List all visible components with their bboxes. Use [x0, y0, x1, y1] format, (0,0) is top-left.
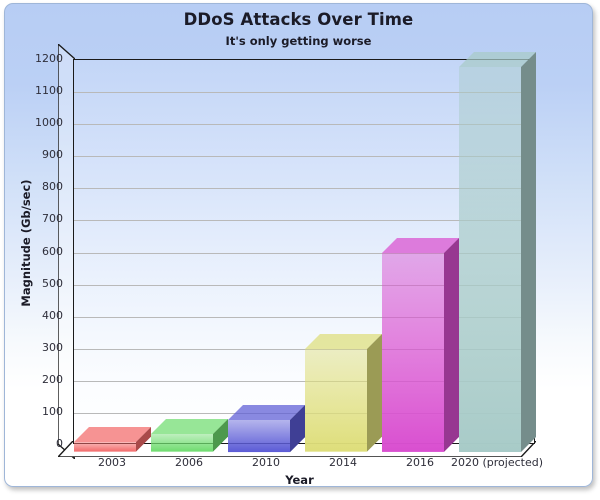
chart-card: DDoS Attacks Over Time It's only getting…: [4, 3, 593, 487]
bar[interactable]: [228, 405, 305, 453]
y-axis-title: Magnitude (Gb/sec): [19, 173, 33, 313]
y-tick-label: 1200: [17, 53, 63, 64]
x-tick-label: 2020 (projected): [437, 456, 557, 469]
y-tick-label: 1000: [17, 117, 63, 128]
bar[interactable]: [74, 427, 151, 453]
y-tick-label: 900: [17, 149, 63, 160]
bar-shape: [305, 334, 382, 453]
bar[interactable]: [459, 52, 536, 453]
bar[interactable]: [382, 238, 459, 453]
y-tick-label: 0: [17, 438, 63, 449]
bar-shape: [382, 238, 459, 453]
y-tick-label: 300: [17, 342, 63, 353]
bar-shape: [459, 52, 536, 453]
bars-layer: [5, 4, 593, 487]
bar-shape: [228, 405, 305, 453]
bar[interactable]: [151, 419, 228, 453]
bar-shape: [74, 427, 151, 453]
y-tick-label: 200: [17, 374, 63, 385]
bar[interactable]: [305, 334, 382, 453]
x-axis-title: Year: [5, 473, 593, 487]
plot-wrap: 1200110010009008007006005004003002001000…: [5, 4, 593, 487]
bar-shape: [151, 419, 228, 453]
y-tick-label: 100: [17, 406, 63, 417]
y-tick-label: 1100: [17, 85, 63, 96]
x-axis-ticks: 200320062010201420162020 (projected): [5, 456, 593, 474]
